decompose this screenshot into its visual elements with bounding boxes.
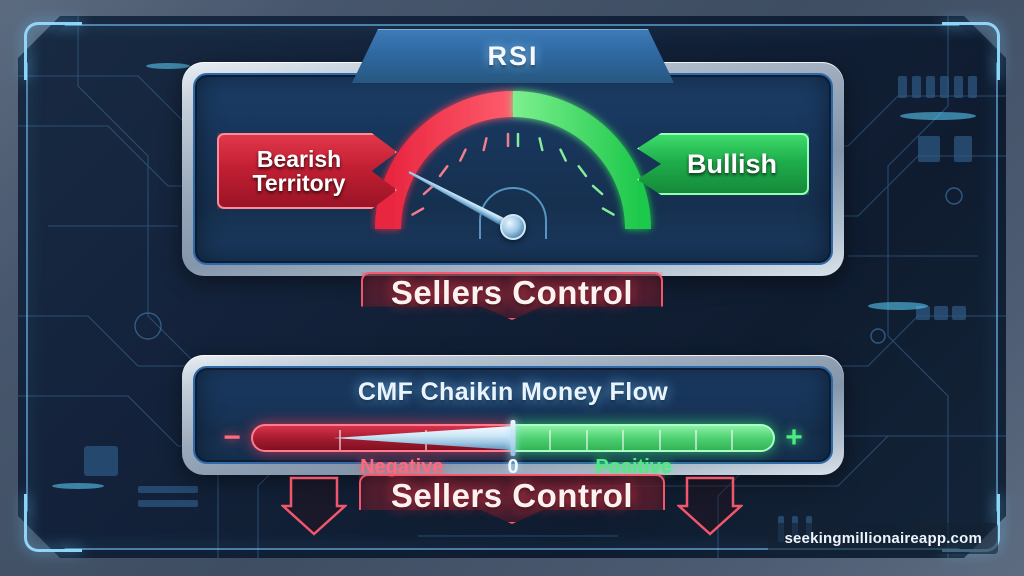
verdict-arrow-right-icon	[677, 476, 743, 538]
corner-accent-bottom-left	[24, 494, 82, 552]
rsi-panel-inner: RSI	[193, 73, 833, 265]
cmf-bar-row: −	[219, 422, 807, 454]
rsi-panel: RSI	[182, 62, 844, 276]
gauge-needle	[513, 227, 515, 229]
cmf-zero-marker	[511, 420, 516, 456]
verdict-arrow-left-icon	[281, 476, 347, 538]
bullish-badge: Bullish	[637, 133, 809, 195]
bearish-territory-badge: Bearish Territory	[217, 133, 397, 209]
minus-sign-icon: −	[219, 423, 245, 453]
gauge-arc-bearish	[388, 104, 513, 229]
cmf-positive-half	[513, 424, 775, 452]
cmf-title: CMF Chaikin Money Flow	[195, 378, 831, 407]
verdict-banner-bottom: Sellers Control	[359, 474, 665, 524]
verdict-banner-top: Sellers Control	[361, 272, 663, 320]
bearish-label-line1: Bearish	[257, 147, 341, 171]
rsi-title-tab: RSI	[352, 29, 674, 83]
dashboard-stage: RSI	[0, 0, 1024, 576]
verdict-bottom-text: Sellers Control	[391, 477, 633, 521]
cmf-panel-inner: CMF Chaikin Money Flow −	[193, 366, 833, 464]
rsi-gauge	[368, 81, 658, 249]
rsi-title: RSI	[487, 41, 538, 72]
corner-accent-top-right	[942, 22, 1000, 80]
gauge-needle-hub	[500, 214, 526, 240]
cmf-track	[251, 424, 775, 452]
bearish-label-line2: Territory	[253, 171, 346, 195]
bullish-label: Bullish	[687, 150, 777, 178]
plus-sign-icon: +	[781, 423, 807, 453]
corner-accent-top-left	[24, 22, 82, 80]
gauge-arc-bullish	[513, 104, 638, 229]
cmf-panel: CMF Chaikin Money Flow −	[182, 355, 844, 475]
watermark: seekingmillionaireapp.com	[768, 523, 998, 554]
verdict-top-text: Sellers Control	[391, 274, 633, 318]
